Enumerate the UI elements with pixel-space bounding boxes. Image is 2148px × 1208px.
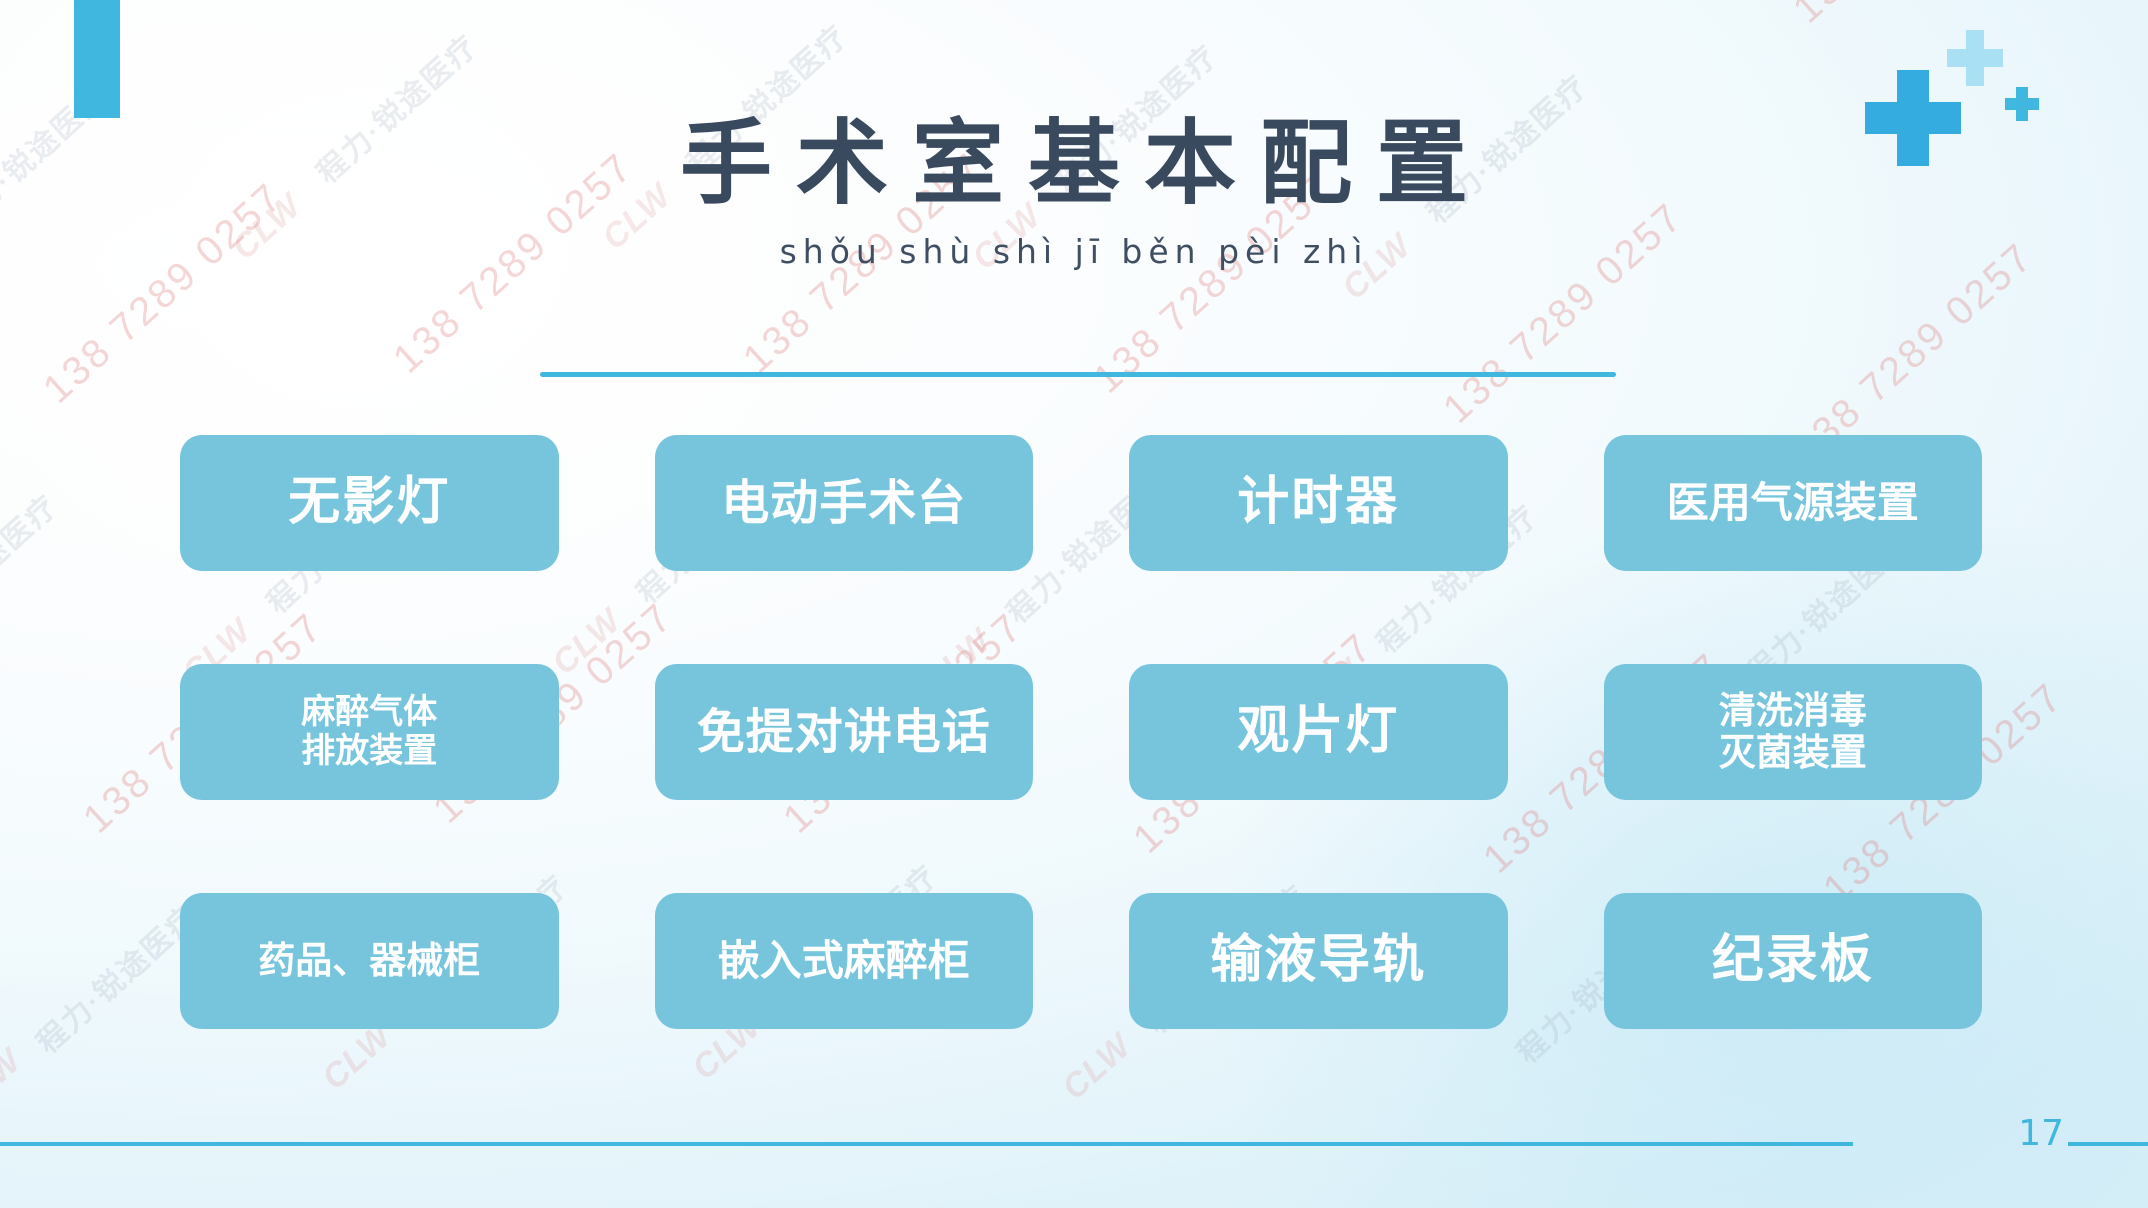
equipment-card[interactable]: 医用气源装置 <box>1604 435 1983 571</box>
equipment-card-label: 医用气源装置 <box>1667 479 1919 527</box>
watermark-brand: 程力·锐途医疗 <box>0 483 66 652</box>
equipment-card[interactable]: 电动手术台 <box>655 435 1034 571</box>
equipment-card[interactable]: 免提对讲电话 <box>655 664 1034 800</box>
equipment-card[interactable]: 嵌入式麻醉柜 <box>655 893 1034 1029</box>
equipment-card-label: 观片灯 <box>1237 702 1399 761</box>
accent-bar-top-left <box>74 0 120 118</box>
watermark-phone: 138 7289 0257 <box>1785 0 2042 33</box>
watermark-clw-logo: CLW <box>1055 1027 1139 1109</box>
page-number: 17 <box>2018 1113 2064 1154</box>
equipment-card-label: 电动手术台 <box>721 476 966 531</box>
equipment-card[interactable]: 无影灯 <box>180 435 559 571</box>
equipment-card-label: 麻醉气体 排放装置 <box>301 693 437 771</box>
equipment-card[interactable]: 输液导轨 <box>1129 893 1508 1029</box>
equipment-card[interactable]: 清洗消毒 灭菌装置 <box>1604 664 1983 800</box>
title-block: 手术室基本配置 shǒu shù shì jī běn pèi zhì <box>0 118 2148 271</box>
equipment-card-label: 药品、器械柜 <box>258 940 480 982</box>
equipment-card[interactable]: 纪录板 <box>1604 893 1983 1029</box>
equipment-card-label: 清洗消毒 灭菌装置 <box>1719 690 1867 774</box>
equipment-card-label: 嵌入式麻醉柜 <box>718 937 970 985</box>
footer-rule-right <box>2068 1142 2148 1146</box>
equipment-card[interactable]: 药品、器械柜 <box>180 893 559 1029</box>
equipment-card[interactable]: 观片灯 <box>1129 664 1508 800</box>
equipment-card-label: 免提对讲电话 <box>697 705 991 760</box>
equipment-card-label: 无影灯 <box>288 473 450 532</box>
equipment-card-label: 计时器 <box>1237 473 1399 532</box>
equipment-card[interactable]: 计时器 <box>1129 435 1508 571</box>
slide-title: 手术室基本配置 <box>0 118 2148 210</box>
title-divider <box>540 372 1616 377</box>
equipment-card[interactable]: 麻醉气体 排放装置 <box>180 664 559 800</box>
equipment-cards-grid: 无影灯电动手术台计时器医用气源装置麻醉气体 排放装置免提对讲电话观片灯清洗消毒 … <box>180 435 1982 1029</box>
watermark-clw-logo: CLW <box>0 1042 30 1124</box>
footer-rule-left <box>0 1142 1853 1146</box>
slide-canvas: 138 7289 0257 138 7289 0257 138 7289 025… <box>0 0 2148 1208</box>
slide-title-pinyin: shǒu shù shì jī běn pèi zhì <box>0 232 2148 271</box>
medical-cross-small-icon <box>2005 87 2039 121</box>
equipment-card-label: 输液导轨 <box>1210 931 1426 990</box>
equipment-card-label: 纪录板 <box>1712 931 1874 990</box>
